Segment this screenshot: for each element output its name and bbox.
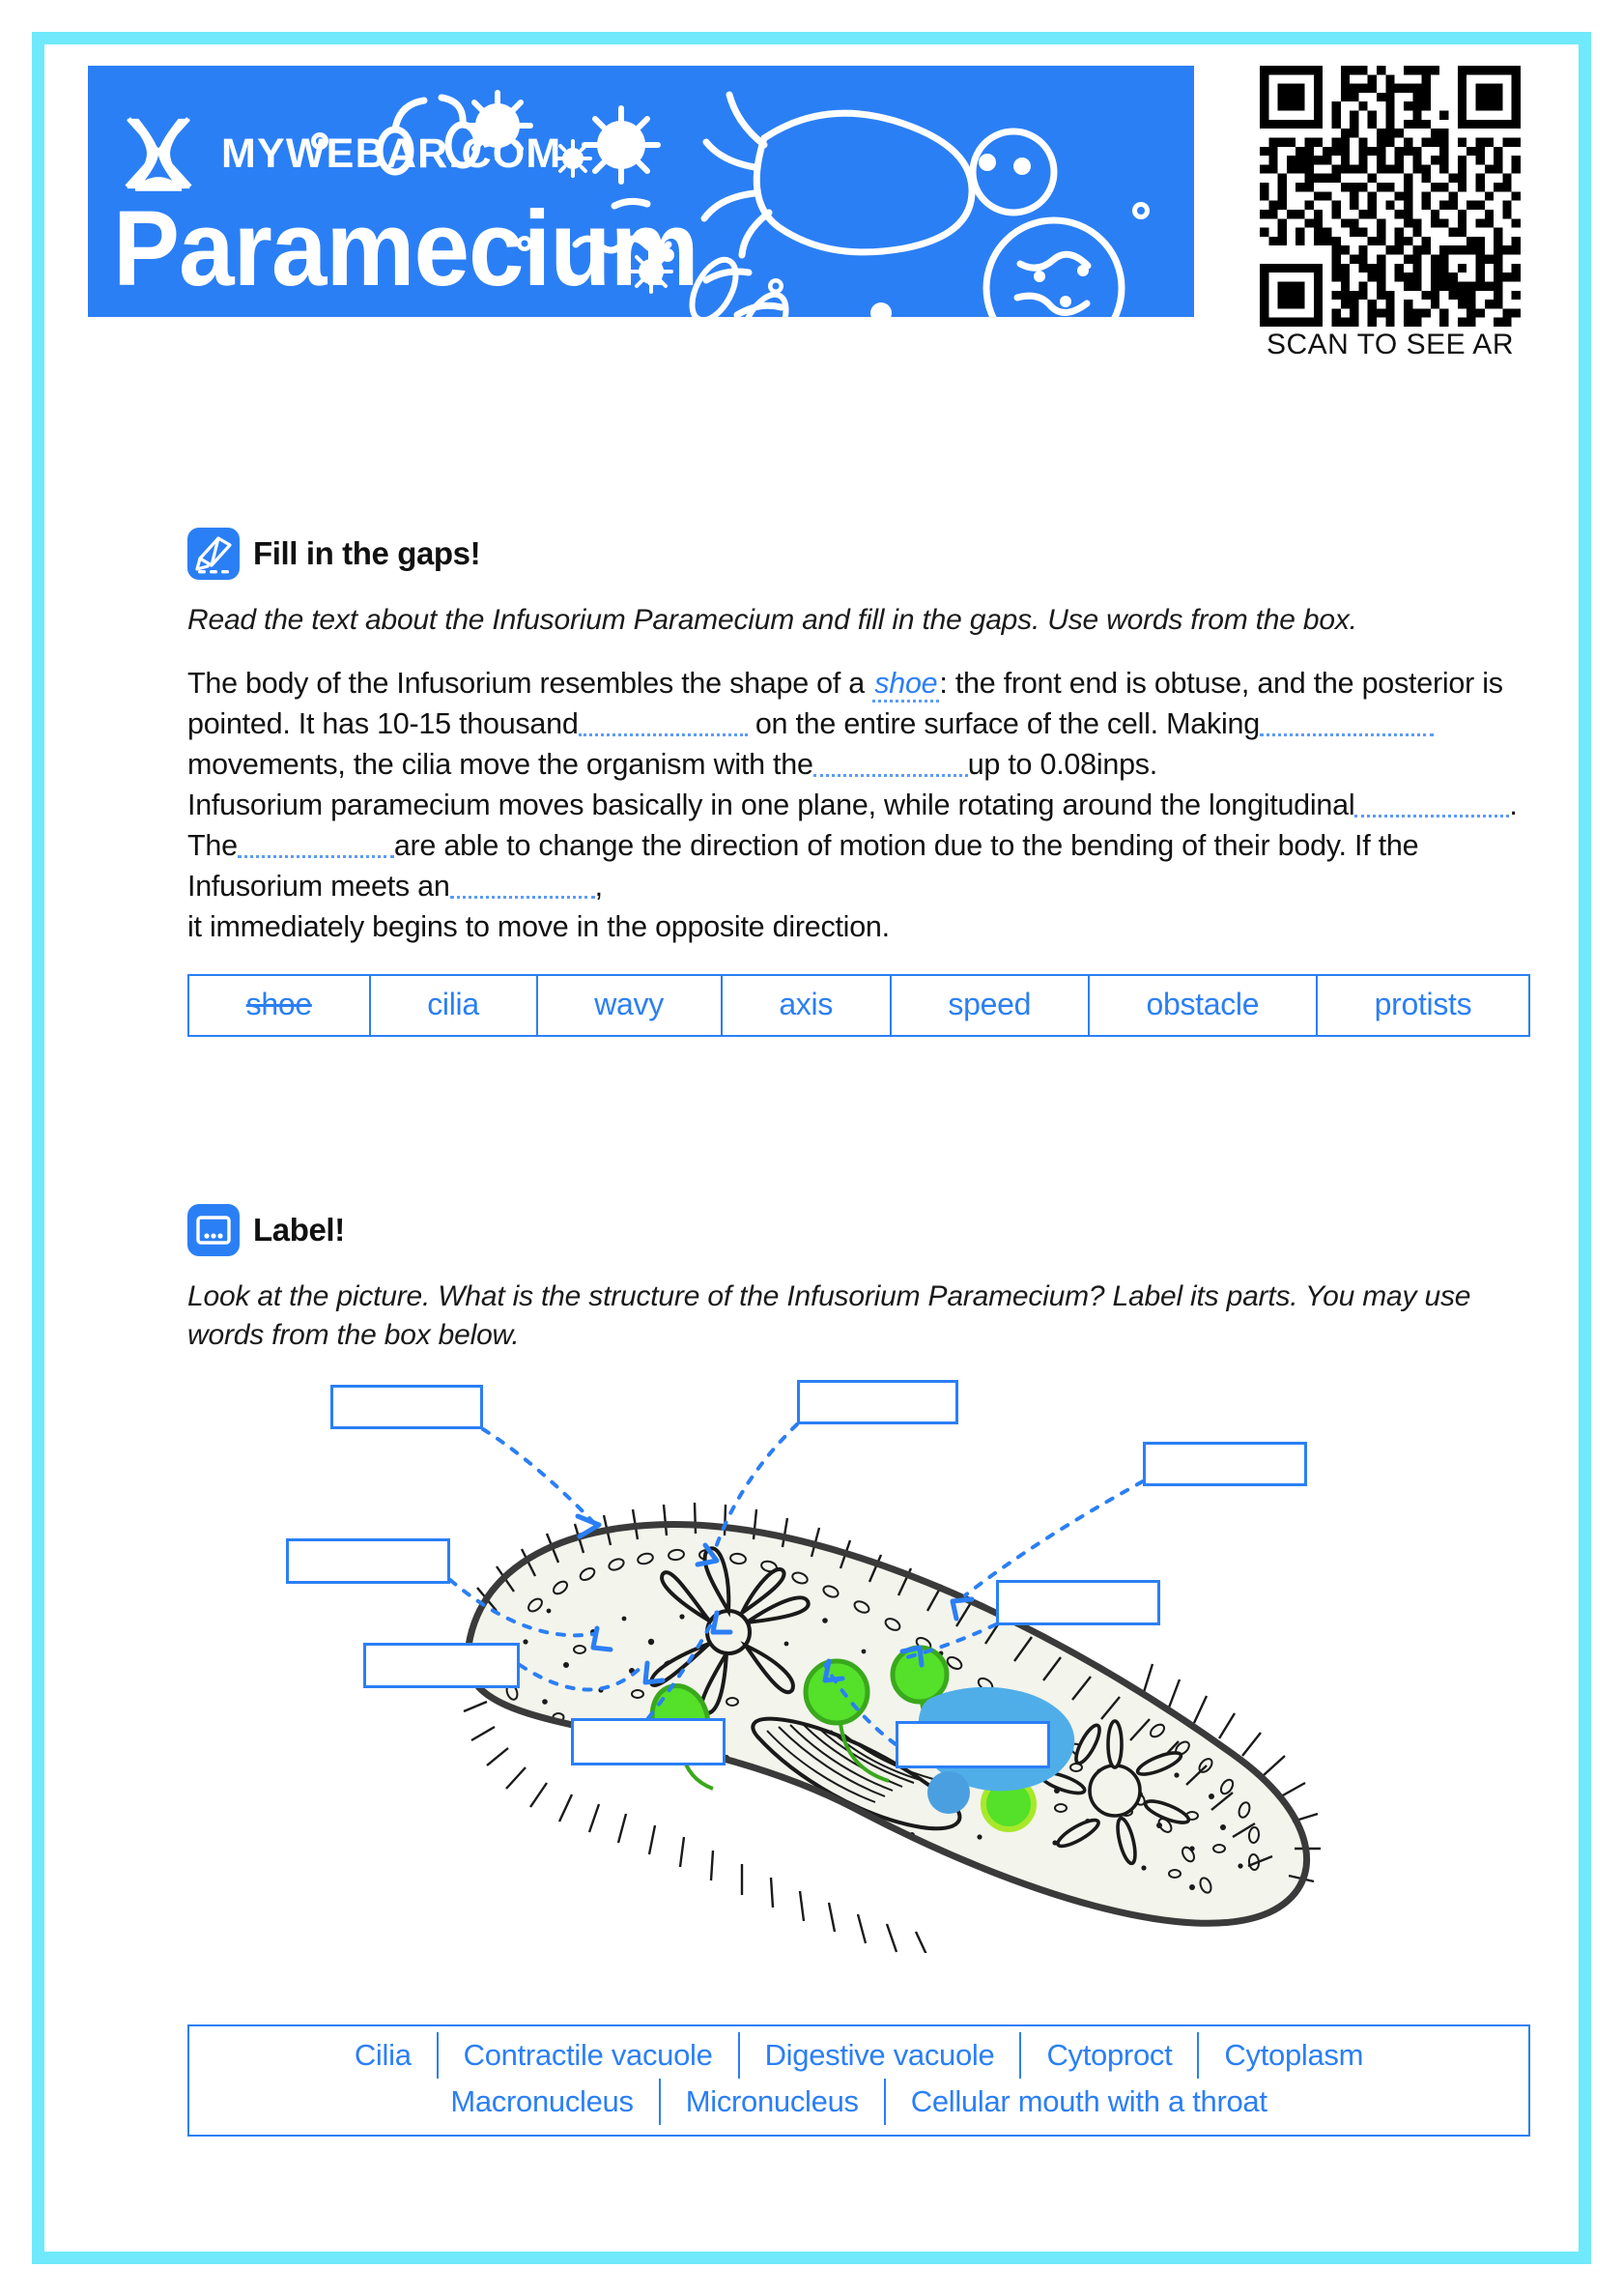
wordbank-item-shoe[interactable]: shoe — [189, 976, 371, 1035]
gap-input-6[interactable] — [450, 867, 595, 899]
task1-heading: Fill in the gaps! — [187, 528, 1530, 580]
worksheet-page: MYWEBAR.COM Paramecium — [32, 32, 1591, 2264]
pencil-write-icon — [187, 528, 240, 580]
task2-heading: Label! — [187, 1204, 1530, 1256]
task1-title: Fill in the gaps! — [253, 535, 480, 572]
label-box-top-left[interactable] — [330, 1385, 483, 1429]
task1-instruction: Read the text about the Infusorium Param… — [187, 601, 1443, 640]
text-p2e: it immediately begins to move in the opp… — [187, 910, 890, 943]
label-box-left-lower[interactable] — [363, 1643, 520, 1688]
wordbank2-item-cytoproct[interactable]: Cytoproct — [1021, 2032, 1199, 2079]
qr-block: SCAN TO SEE AR — [1231, 66, 1550, 361]
gap-input-5[interactable] — [238, 826, 394, 858]
task1-wordbank: shoe cilia wavy axis speed obstacle prot… — [187, 974, 1530, 1037]
wordbank-item-obstacle[interactable]: obstacle — [1090, 976, 1318, 1035]
gap-input-4[interactable] — [1354, 786, 1509, 818]
filled-answer-shoe[interactable]: shoe — [872, 667, 939, 703]
wordbank2-item-digestive-vacuole[interactable]: Digestive vacuole — [740, 2032, 1022, 2079]
wordbank-item-protists[interactable]: protists — [1318, 976, 1528, 1035]
gap-input-3[interactable] — [813, 745, 968, 777]
task2-title: Label! — [253, 1212, 345, 1248]
wordbank2-item-cytoplasm[interactable]: Cytoplasm — [1199, 2032, 1388, 2079]
gap-input-2[interactable] — [1260, 704, 1434, 736]
qr-code-icon[interactable] — [1237, 66, 1544, 327]
wordbank-item-axis[interactable]: axis — [723, 976, 892, 1035]
text-p1a: The body of the Infusorium resembles the… — [187, 667, 872, 700]
wordbank2-item-micronucleus[interactable]: Micronucleus — [661, 2079, 886, 2125]
wordbank2-item-contractile-vacuole[interactable]: Contractile vacuole — [439, 2032, 740, 2079]
label-box-top-right[interactable] — [797, 1380, 958, 1424]
header-banner: MYWEBAR.COM Paramecium — [88, 66, 1194, 317]
text-p1c: on the entire surface of the cell. Makin… — [755, 707, 1260, 740]
label-box-right-upper[interactable] — [1143, 1442, 1307, 1486]
gap-input-1[interactable] — [579, 704, 748, 736]
page-title: Paramecium — [113, 196, 698, 302]
label-box-bottom-right[interactable] — [896, 1721, 1050, 1768]
mywebar-x-logo-icon — [117, 112, 200, 195]
wordbank-item-wavy[interactable]: wavy — [538, 976, 723, 1035]
worksheet-sheet: MYWEBAR.COM Paramecium — [44, 44, 1579, 2252]
task1-paragraph-2: Infusorium paramecium moves basically in… — [187, 785, 1530, 947]
text-p1d: movements, the cilia move the organism w… — [187, 748, 813, 781]
wordbank2-item-cellular-mouth[interactable]: Cellular mouth with a throat — [886, 2079, 1293, 2125]
text-p2d: , — [595, 870, 603, 903]
text-p2a: Infusorium paramecium moves basically in… — [187, 789, 1354, 821]
label-box-bottom-middle[interactable] — [571, 1718, 726, 1765]
wordbank-item-speed[interactable]: speed — [892, 976, 1090, 1035]
paramecium-diagram — [187, 1375, 1530, 1965]
task2-wordbank-row-2: Macronucleus Micronucleus Cellular mouth… — [189, 2079, 1528, 2125]
qr-caption: SCAN TO SEE AR — [1231, 329, 1550, 361]
wordbank2-item-cilia[interactable]: Cilia — [329, 2032, 439, 2079]
label-box-icon — [187, 1204, 240, 1256]
task1-paragraph-1: The body of the Infusorium resembles the… — [187, 663, 1530, 785]
brand-name: MYWEBAR.COM — [221, 130, 561, 178]
task2-wordbank: Cilia Contractile vacuole Digestive vacu… — [187, 2024, 1530, 2137]
brand-row: MYWEBAR.COM — [117, 112, 561, 195]
wordbank2-item-macronucleus[interactable]: Macronucleus — [425, 2079, 660, 2125]
text-p1e: up to 0.08inps. — [968, 748, 1157, 781]
task2-wordbank-row-1: Cilia Contractile vacuole Digestive vacu… — [189, 2032, 1528, 2079]
task2-instruction: Look at the picture. What is the structu… — [187, 1277, 1501, 1354]
label-box-left-middle[interactable] — [286, 1538, 450, 1584]
wordbank-item-cilia[interactable]: cilia — [371, 976, 538, 1035]
label-box-right-middle[interactable] — [996, 1580, 1160, 1625]
